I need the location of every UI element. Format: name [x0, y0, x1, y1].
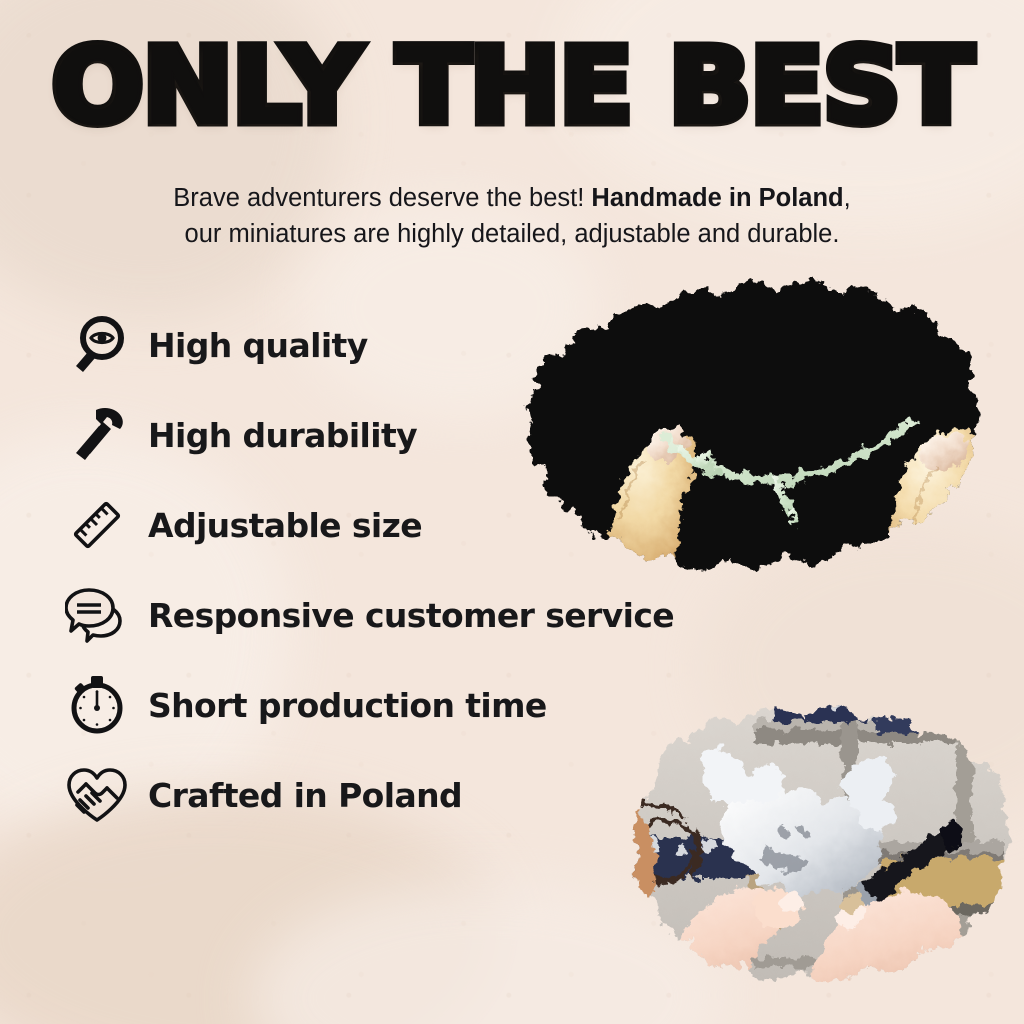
subtitle-line1-prefix: Brave adventurers deserve the best! [173, 184, 591, 212]
feature-label: High quality [148, 326, 368, 365]
feature-item-high-durability: High durability [58, 390, 758, 480]
feature-label: High durability [148, 416, 417, 455]
promo-poster: ONLY THE BEST Brave adventurers deserve … [0, 0, 1024, 1024]
subtitle-line1-suffix: , [844, 184, 851, 212]
speech-bubbles-icon [58, 579, 136, 651]
feature-item-adjustable-size: Adjustable size [58, 480, 758, 570]
ruler-icon [58, 489, 136, 561]
feature-label: Crafted in Poland [148, 776, 462, 815]
page-title: ONLY THE BEST [0, 34, 1024, 138]
subtitle: Brave adventurers deserve the best! Hand… [62, 180, 962, 252]
subtitle-highlight: Handmade in Poland [591, 184, 843, 212]
hammer-icon [58, 399, 136, 471]
stopwatch-icon [58, 669, 136, 741]
subtitle-line2: our miniatures are highly detailed, adju… [185, 220, 840, 248]
feature-label: Adjustable size [148, 506, 422, 545]
feature-label: Responsive customer service [148, 596, 674, 635]
feature-label: Short production time [148, 686, 547, 725]
feature-list: High quality High durability [58, 300, 758, 840]
feature-item-production-time: Short production time [58, 660, 758, 750]
magnifier-eye-icon [58, 309, 136, 381]
feature-item-crafted-in-poland: Crafted in Poland [58, 750, 758, 840]
heart-handshake-icon [58, 759, 136, 831]
feature-item-customer-service: Responsive customer service [58, 570, 758, 660]
feature-item-high-quality: High quality [58, 300, 758, 390]
